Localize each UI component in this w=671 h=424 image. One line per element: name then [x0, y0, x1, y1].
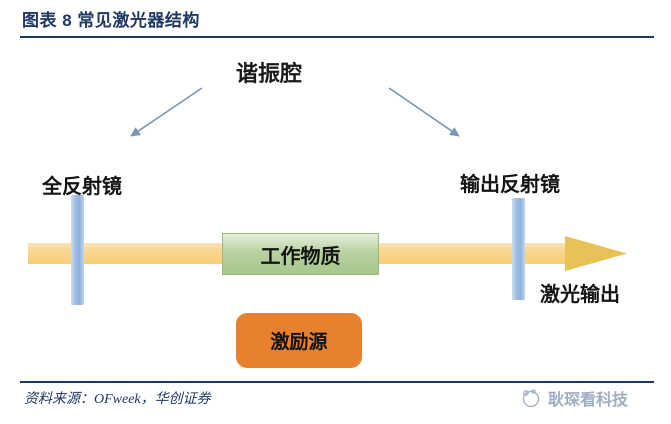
cavity-arrow-left: [131, 88, 202, 136]
gain-medium-label: 工作物质: [261, 240, 341, 269]
total-reflection-mirror-label: 全反射镜: [42, 170, 122, 199]
watermark-text: 耿琛看科技: [548, 386, 628, 410]
title-divider: [20, 36, 654, 38]
source-note: 资料来源：OFweek，华创证券: [24, 388, 211, 408]
laser-output-label: 激光输出: [540, 278, 620, 307]
pump-source-label: 激励源: [270, 327, 327, 354]
output-mirror: [512, 198, 525, 300]
laser-beam-arrowhead: [565, 228, 627, 279]
watermark: 耿琛看科技: [520, 386, 628, 410]
exhibit-figure: 图表 8 常见激光器结构 谐振腔 全反射镜 输出反射镜 工作物质: [0, 0, 671, 424]
laser-structure-diagram: 谐振腔 全反射镜 输出反射镜 工作物质 激励源 激: [0, 40, 671, 378]
watermark-logo-icon: [520, 387, 542, 409]
gain-medium-box: 工作物质: [222, 233, 379, 275]
page-title: 图表 8 常见激光器结构: [22, 6, 200, 31]
total-reflection-mirror: [71, 195, 84, 305]
footer-divider: [20, 381, 654, 383]
output-mirror-label: 输出反射镜: [460, 168, 560, 197]
cavity-arrow-right: [389, 88, 459, 136]
pump-source-box: 激励源: [236, 313, 362, 368]
